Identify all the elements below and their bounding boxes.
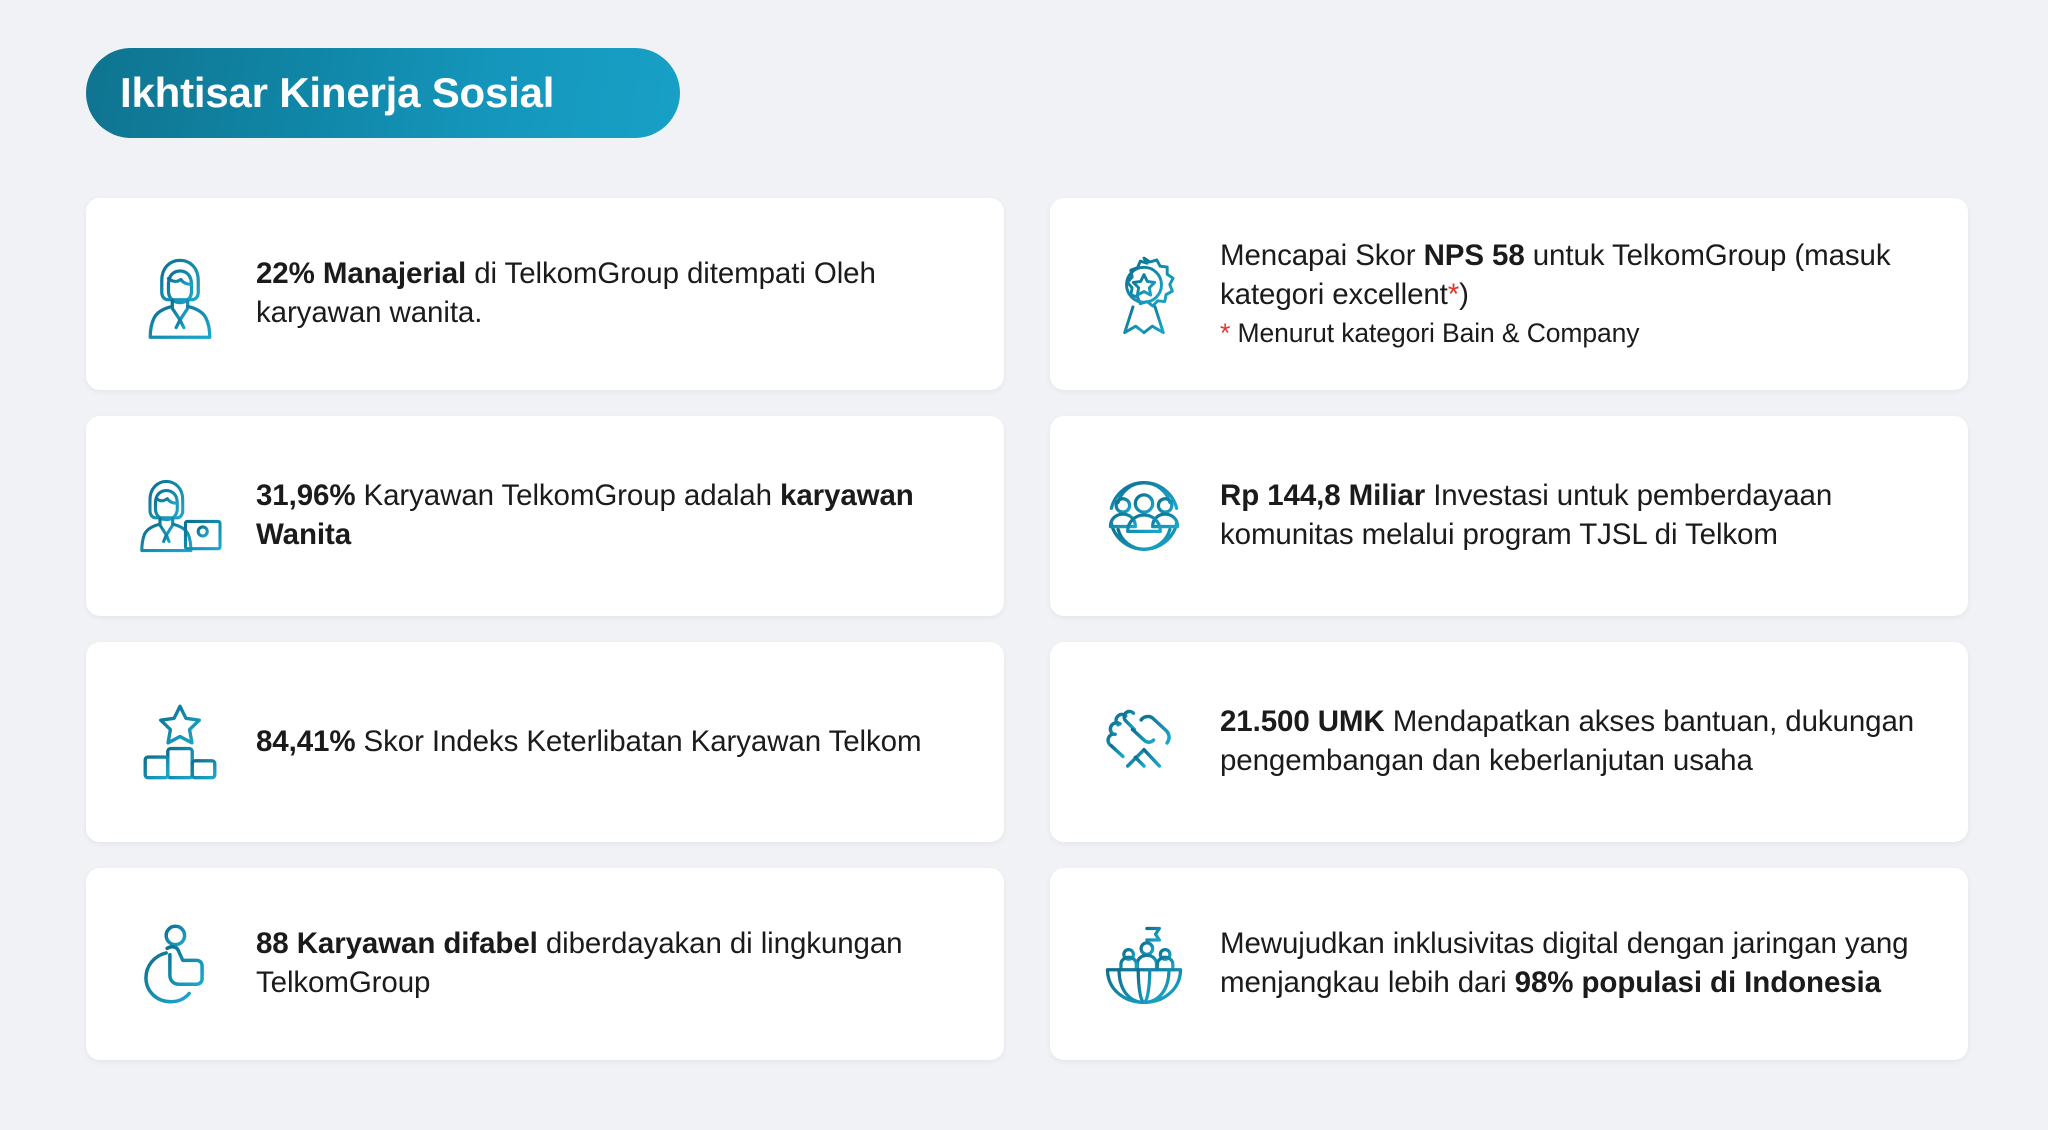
card-footnote: * Menurut kategori Bain & Company [1220, 316, 1934, 350]
globe-people-flag-icon [1084, 909, 1204, 1019]
card-tjsl-investment: Rp 144,8 Miliar Investasi untuk pemberda… [1050, 416, 1968, 616]
award-ribbon-icon [1084, 239, 1204, 349]
businesswoman-icon [120, 239, 240, 349]
footnote-asterisk: * [1220, 318, 1230, 348]
community-group-icon [1084, 461, 1204, 571]
card-umk-support: 21.500 UMK Mendapatkan akses bantuan, du… [1050, 642, 1968, 842]
card-text: Rp 144,8 Miliar Investasi untuk pemberda… [1220, 477, 1934, 554]
handshake-icon [1084, 687, 1204, 797]
footnote-text: Menurut kategori Bain & Company [1237, 318, 1639, 348]
page-title-banner: Ikhtisar Kinerja Sosial [86, 48, 680, 138]
card-body: Mencapai Skor [1220, 239, 1424, 272]
card-body-3: ) [1459, 278, 1469, 311]
highlight-cards-grid: 22% Manajerial di TelkomGroup ditempati … [86, 198, 1968, 1060]
card-text: 31,96% Karyawan TelkomGroup adalah karya… [256, 477, 970, 554]
card-highlight: 88 Karyawan difabel [256, 927, 538, 960]
page-title: Ikhtisar Kinerja Sosial [120, 72, 554, 114]
card-text: 84,41% Skor Indeks Keterlibatan Karyawan… [256, 723, 970, 762]
card-body: Skor Indeks Keterlibatan Karyawan Telkom [355, 725, 921, 758]
card-highlight: 98% populasi di Indonesia [1515, 966, 1881, 999]
card-digital-inclusivity: Mewujudkan inklusivitas digital dengan j… [1050, 868, 1968, 1060]
card-text: 22% Manajerial di TelkomGroup ditempati … [256, 255, 970, 332]
card-women-employees: 31,96% Karyawan TelkomGroup adalah karya… [86, 416, 1004, 616]
card-highlight: NPS 58 [1424, 239, 1525, 272]
card-text: Mencapai Skor NPS 58 untuk TelkomGroup (… [1220, 237, 1934, 351]
card-body: Karyawan TelkomGroup adalah [355, 479, 780, 512]
social-performance-overview-page: Ikhtisar Kinerja Sosial [0, 0, 2048, 1130]
card-nps-score: Mencapai Skor NPS 58 untuk TelkomGroup (… [1050, 198, 1968, 390]
card-highlight: 21.500 UMK [1220, 705, 1385, 738]
card-text: 88 Karyawan difabel diberdayakan di ling… [256, 925, 970, 1002]
card-text: 21.500 UMK Mendapatkan akses bantuan, du… [1220, 703, 1934, 780]
card-highlight: 22% Manajerial [256, 257, 466, 290]
card-highlight: 31,96% [256, 479, 355, 512]
card-highlight: Rp 144,8 Miliar [1220, 479, 1425, 512]
asterisk-marker: * [1448, 278, 1459, 311]
woman-id-badge-icon [120, 461, 240, 571]
card-managerial-women: 22% Manajerial di TelkomGroup ditempati … [86, 198, 1004, 390]
wheelchair-accessibility-icon [120, 909, 240, 1019]
podium-star-icon [120, 687, 240, 797]
card-engagement-index: 84,41% Skor Indeks Keterlibatan Karyawan… [86, 642, 1004, 842]
card-text: Mewujudkan inklusivitas digital dengan j… [1220, 925, 1934, 1002]
card-highlight: 84,41% [256, 725, 355, 758]
card-disabled-employees: 88 Karyawan difabel diberdayakan di ling… [86, 868, 1004, 1060]
